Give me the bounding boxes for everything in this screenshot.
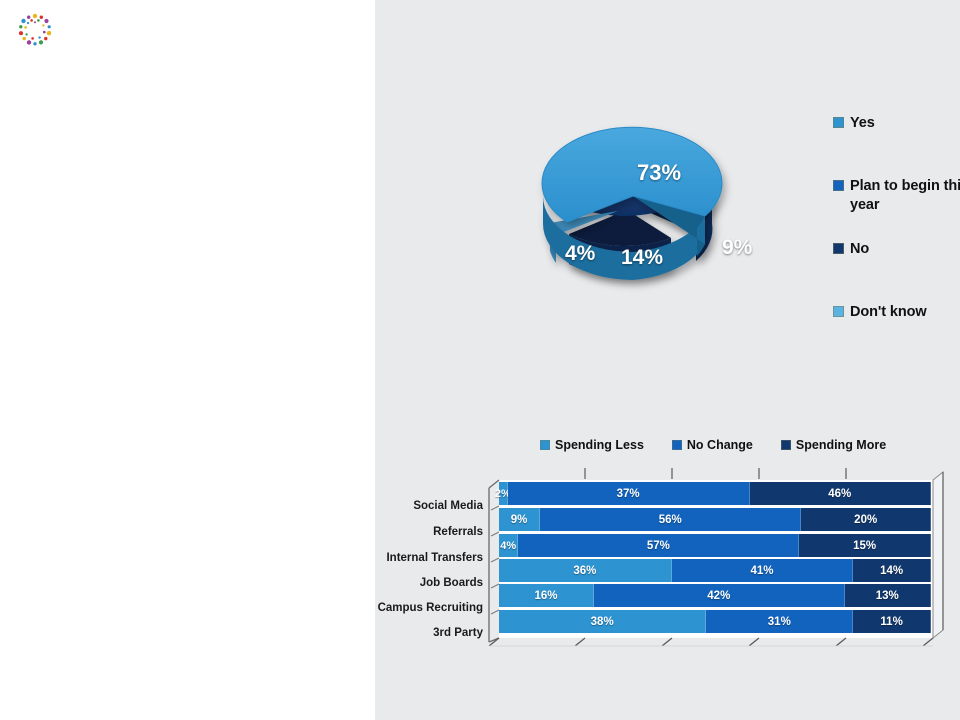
pie-legend-label: Plan to begin this year xyxy=(850,177,960,214)
bar-value-label: 9% xyxy=(511,514,528,526)
legend-swatch-icon xyxy=(833,180,844,191)
bar-value-label: 11% xyxy=(880,616,902,628)
bar-segment-spending-less[interactable]: 16% xyxy=(499,584,594,607)
bar-value-label: 13% xyxy=(876,590,899,602)
bar-value-label: 42% xyxy=(707,590,730,602)
bar-row-campus-recruiting[interactable]: 16% 42% 13% xyxy=(499,584,931,607)
bar-legend-label: Spending More xyxy=(796,438,886,452)
bar-row-internal-transfers[interactable]: 4% 57% 15% xyxy=(499,534,931,557)
bar-segment-spending-less[interactable]: 4% xyxy=(499,534,518,557)
bar-segment-spending-less[interactable]: 2% xyxy=(499,482,508,505)
slide-canvas: 73% 14% 9% 4% Yes Plan to begin this yea… xyxy=(0,0,960,720)
pie-legend-label: Yes xyxy=(850,114,875,133)
bar-category-3rd-party: 3rd Party xyxy=(375,627,483,639)
pie-legend-item-plan[interactable]: Plan to begin this year xyxy=(833,177,960,214)
bar-value-label: 15% xyxy=(853,540,876,552)
bar-value-label: 4% xyxy=(500,540,516,552)
bar-chart-category-axis: Social Media Referrals Internal Transfer… xyxy=(375,482,483,640)
bar-legend-item-no-change[interactable]: No Change xyxy=(672,438,753,452)
bar-category-campus-recruiting: Campus Recruiting xyxy=(375,602,483,614)
bar-value-label: 36% xyxy=(573,565,596,577)
bar-chart-legend: Spending Less No Change Spending More xyxy=(540,438,886,452)
bar-segment-no-change[interactable]: 37% xyxy=(508,482,750,505)
bar-segment-spending-less[interactable]: 38% xyxy=(499,610,706,633)
bar-row-social-media[interactable]: 2% 37% 46% xyxy=(499,482,931,505)
bar-segment-spending-less[interactable]: 9% xyxy=(499,508,540,531)
bar-segment-no-change[interactable]: 56% xyxy=(540,508,801,531)
pie-legend-item-dont-know[interactable]: Don't know xyxy=(833,303,927,322)
pie-legend-label: Don't know xyxy=(850,303,927,322)
bar-segment-spending-more[interactable]: 14% xyxy=(853,559,931,582)
content-panel: 73% 14% 9% 4% Yes Plan to begin this yea… xyxy=(375,0,960,720)
bar-row-3rd-party[interactable]: 38% 31% 11% xyxy=(499,610,931,633)
bar-row-job-boards[interactable]: 36% 41% 14% xyxy=(499,559,931,582)
bar-legend-label: No Change xyxy=(687,438,753,452)
pie-legend-item-yes[interactable]: Yes xyxy=(833,114,875,133)
bar-value-label: 20% xyxy=(854,514,877,526)
bar-value-label: 16% xyxy=(535,590,558,602)
bar-value-label: 41% xyxy=(751,565,774,577)
bar-series-container: 2% 37% 46% 9% xyxy=(499,482,931,636)
bar-value-label: 46% xyxy=(828,488,851,500)
bar-category-referrals: Referrals xyxy=(375,526,483,538)
bar-chart-plot-area: 2% 37% 46% 9% xyxy=(487,466,947,648)
pie-legend-item-no[interactable]: No xyxy=(833,240,869,259)
bar-segment-no-change[interactable]: 57% xyxy=(518,534,799,557)
bar-segment-spending-more[interactable]: 11% xyxy=(853,610,931,633)
legend-swatch-icon xyxy=(833,243,844,254)
company-dot-ring-logo xyxy=(14,10,56,52)
bar-value-label: 31% xyxy=(768,616,791,628)
left-blank-panel xyxy=(0,0,375,720)
pie-chart-graphic xyxy=(455,100,815,300)
bar-segment-spending-more[interactable]: 15% xyxy=(799,534,931,557)
bar-legend-item-spending-less[interactable]: Spending Less xyxy=(540,438,644,452)
stacked-bar-chart: Spending Less No Change Spending More So… xyxy=(375,438,960,653)
bar-segment-spending-more[interactable]: 20% xyxy=(801,508,931,531)
bar-category-internal-transfers: Internal Transfers xyxy=(375,552,483,564)
bar-segment-spending-less[interactable]: 36% xyxy=(499,559,672,582)
pie-legend-label: No xyxy=(850,240,869,259)
legend-swatch-icon xyxy=(781,440,791,450)
bar-value-label: 38% xyxy=(591,616,614,628)
pie-chart: 73% 14% 9% 4% Yes Plan to begin this yea… xyxy=(455,100,960,360)
legend-swatch-icon xyxy=(833,306,844,317)
bar-segment-spending-more[interactable]: 13% xyxy=(845,584,931,607)
legend-swatch-icon xyxy=(672,440,682,450)
bar-category-social-media: Social Media xyxy=(375,500,483,512)
bar-segment-no-change[interactable]: 42% xyxy=(594,584,845,607)
bar-segment-spending-more[interactable]: 46% xyxy=(750,482,931,505)
bar-value-label: 37% xyxy=(617,488,640,500)
bar-segment-no-change[interactable]: 31% xyxy=(706,610,853,633)
bar-category-job-boards: Job Boards xyxy=(375,577,483,589)
bar-legend-label: Spending Less xyxy=(555,438,644,452)
bar-row-referrals[interactable]: 9% 56% 20% xyxy=(499,508,931,531)
legend-swatch-icon xyxy=(540,440,550,450)
bar-value-label: 57% xyxy=(647,540,670,552)
legend-swatch-icon xyxy=(833,117,844,128)
bar-segment-no-change[interactable]: 41% xyxy=(672,559,853,582)
bar-value-label: 56% xyxy=(659,514,682,526)
bar-legend-item-spending-more[interactable]: Spending More xyxy=(781,438,886,452)
bar-value-label: 14% xyxy=(880,565,903,577)
